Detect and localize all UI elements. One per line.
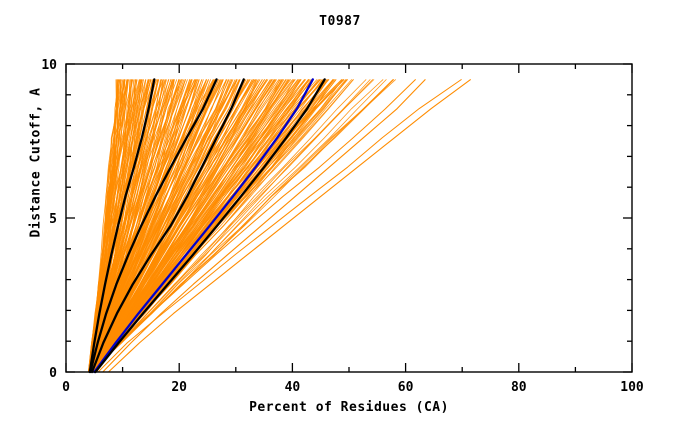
figure-canvas: T0987 Distance Cutoff, A Percent of Resi… [0,0,680,440]
y-tick-label: 0 [49,366,57,381]
x-tick-label: 20 [171,380,187,395]
x-tick-label: 0 [62,380,70,395]
y-tick-label: 5 [49,212,57,227]
x-tick-label: 60 [398,380,414,395]
plot-area: 0204060801000510 [0,0,680,440]
x-tick-label: 40 [285,380,301,395]
x-tick-label: 100 [620,380,644,395]
y-tick-label: 10 [41,58,57,73]
x-tick-label: 80 [511,380,527,395]
curves-layer [88,79,470,372]
